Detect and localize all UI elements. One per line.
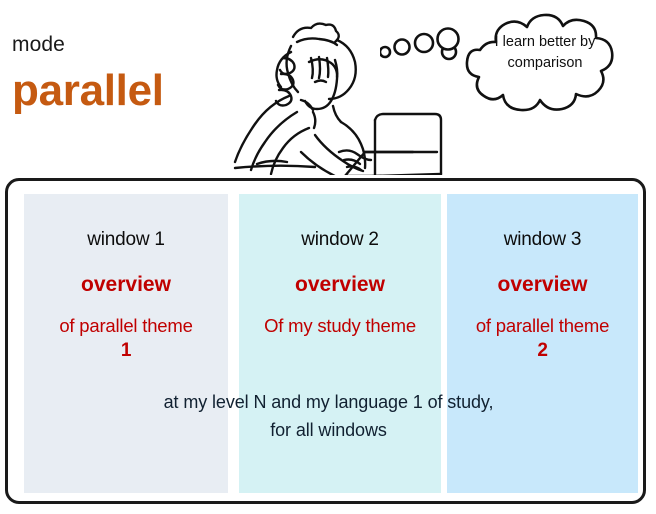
thought-dots-icon [380, 15, 460, 65]
window-2-overview-label: overview [239, 273, 441, 297]
window-panels: window 1 overview of parallel theme 1 wi… [8, 181, 649, 507]
mode-value: parallel [12, 66, 164, 116]
window-1-theme-number: 1 [24, 338, 228, 363]
window-1-theme: of parallel theme 1 [24, 313, 228, 363]
mode-label: mode [12, 33, 65, 57]
window-3-overview-label: overview [447, 273, 638, 297]
window-3-title: window 3 [447, 229, 638, 251]
window-panel-3[interactable]: window 3 overview of parallel theme 2 [447, 194, 638, 493]
window-1-title: window 1 [24, 229, 228, 251]
header: mode parallel [0, 0, 656, 178]
window-panel-2-content: window 2 overview Of my study theme [239, 194, 441, 338]
window-2-theme-text: Of my study theme [264, 315, 416, 336]
thought-bubble-text: I learn better by comparison [462, 32, 628, 74]
window-panel-1[interactable]: window 1 overview of parallel theme 1 [24, 194, 228, 493]
window-panel-3-content: window 3 overview of parallel theme 2 [447, 194, 638, 363]
mode-content-box: window 1 overview of parallel theme 1 wi… [5, 178, 646, 504]
window-2-title: window 2 [239, 229, 441, 251]
window-1-overview-label: overview [24, 273, 228, 297]
window-2-theme: Of my study theme [239, 313, 441, 338]
window-3-theme-number: 2 [447, 338, 638, 363]
window-panel-2[interactable]: window 2 overview Of my study theme [239, 194, 441, 493]
window-3-theme: of parallel theme 2 [447, 313, 638, 363]
window-panel-1-content: window 1 overview of parallel theme 1 [24, 194, 228, 363]
window-1-theme-text: of parallel theme [59, 315, 192, 336]
window-3-theme-text: of parallel theme [476, 315, 609, 336]
